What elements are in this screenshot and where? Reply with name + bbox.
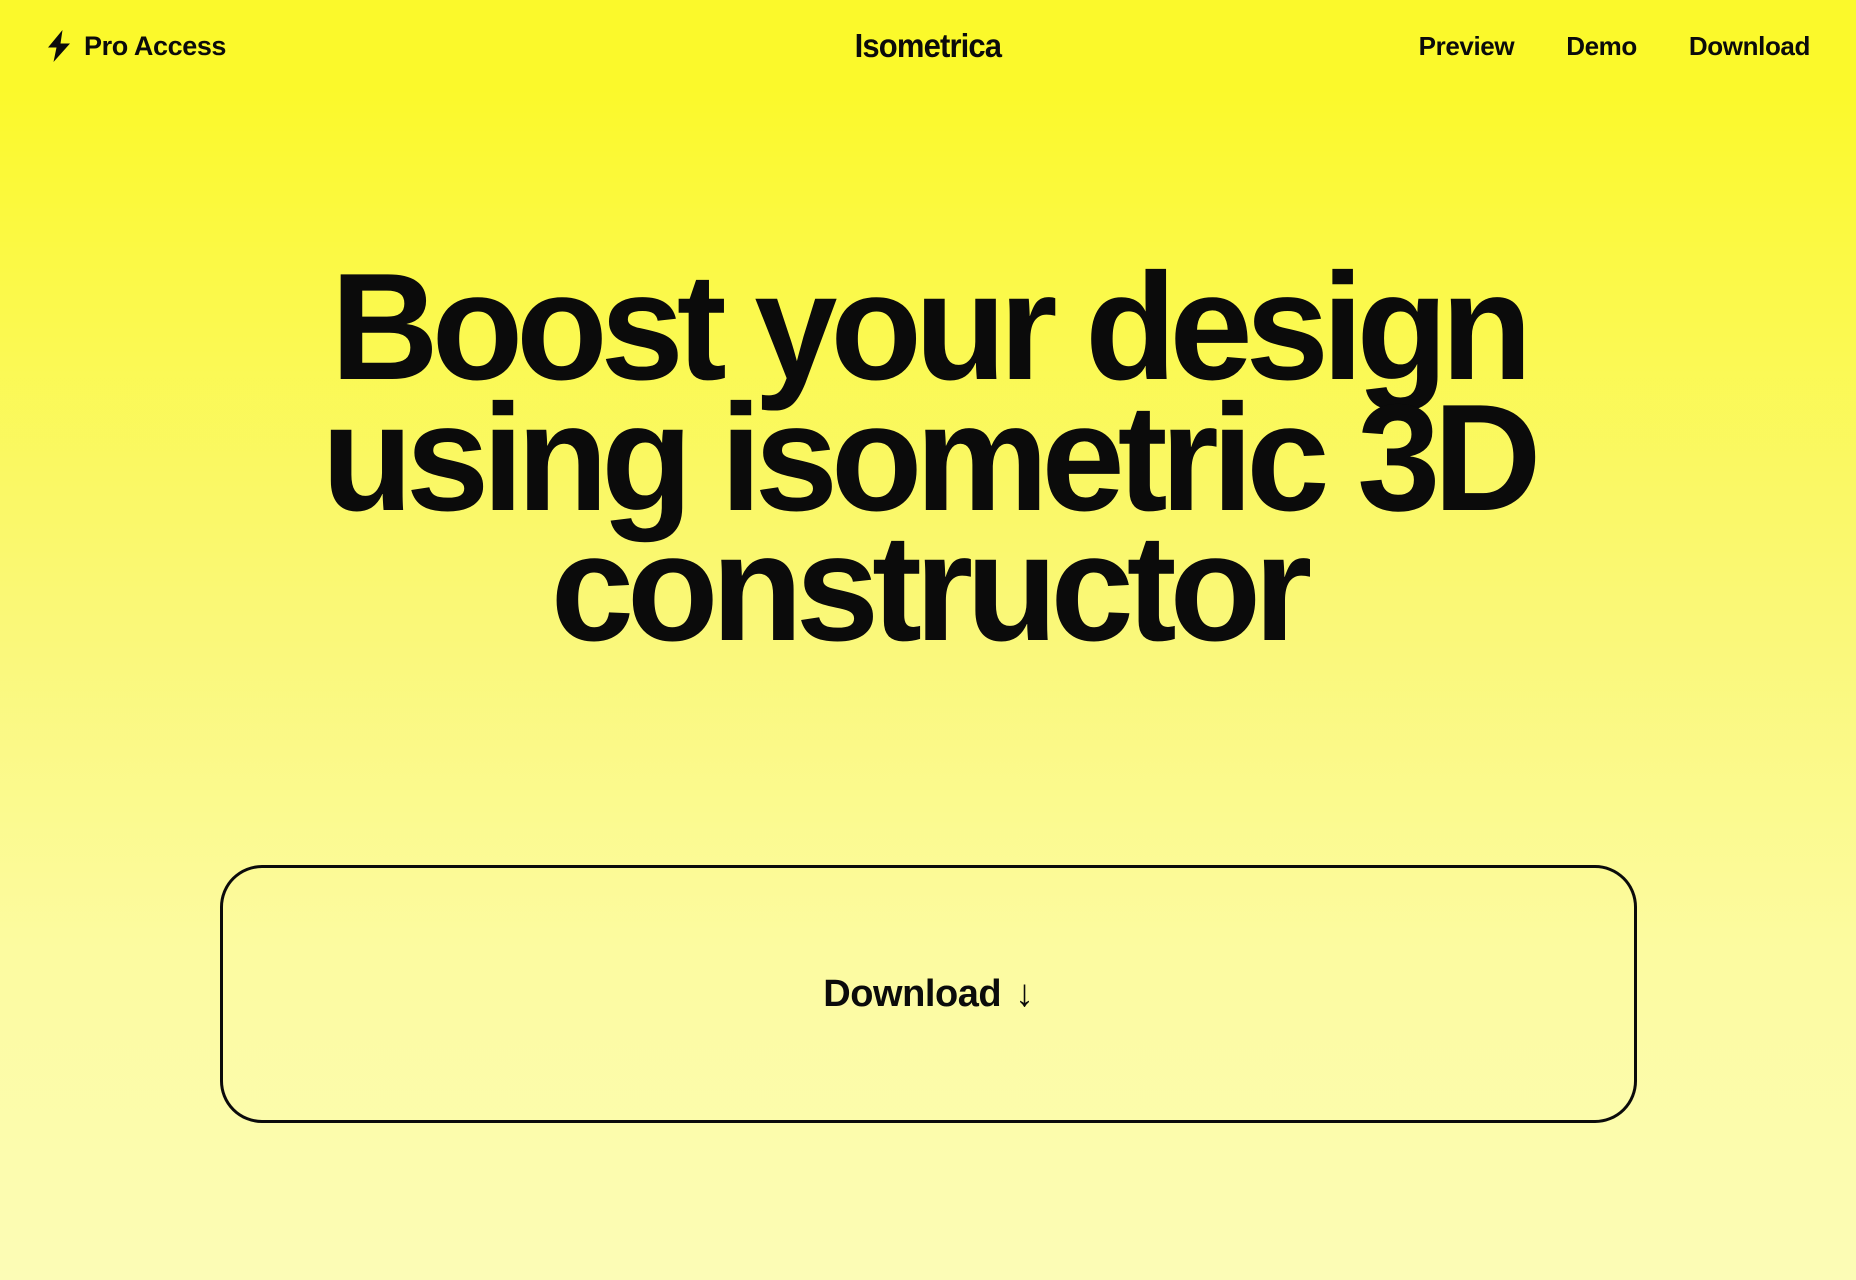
page-title: Boost your design using isometric 3D con…: [14, 262, 1842, 654]
arrow-down-icon: ↓: [1015, 975, 1034, 1013]
nav-link-download[interactable]: Download: [1689, 31, 1810, 62]
nav-link-preview[interactable]: Preview: [1419, 31, 1515, 62]
brand-logo[interactable]: Isometrica: [850, 27, 1006, 65]
headline-line-3: constructor: [14, 523, 1842, 654]
hero-section: Boost your design using isometric 3D con…: [0, 262, 1856, 654]
lightning-bolt-icon: [46, 30, 72, 62]
pro-access-label: Pro Access: [84, 31, 226, 62]
top-navigation-bar: Pro Access Isometrica Preview Demo Downl…: [0, 0, 1856, 92]
download-button[interactable]: Download ↓: [220, 865, 1637, 1123]
download-button-content: Download ↓: [823, 973, 1033, 1016]
brand-name: Isometrica: [855, 27, 1001, 65]
nav-links: Preview Demo Download: [1006, 31, 1810, 62]
download-button-label: Download: [823, 973, 1001, 1016]
nav-pro-access[interactable]: Pro Access: [46, 30, 850, 62]
nav-link-demo[interactable]: Demo: [1566, 31, 1637, 62]
